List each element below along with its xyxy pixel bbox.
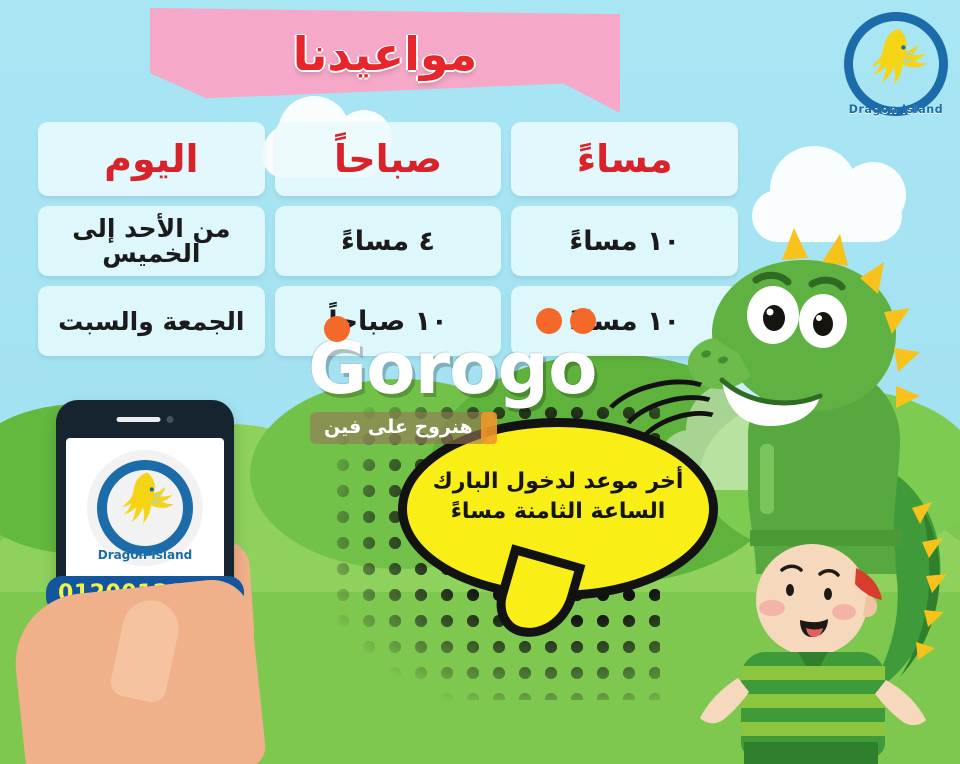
logo-name-label: Dragon Island <box>840 103 952 117</box>
phone-brand-logo: Dragon Island <box>87 450 203 566</box>
header-cell-day: اليوم <box>38 122 265 196</box>
cell-morning: ٤ مساءً <box>275 206 502 276</box>
notice-speech-bubble: أخر موعد لدخول البارك الساعة الثامنة مسا… <box>398 418 718 600</box>
table-header-row: اليوم صباحاً مساءً <box>38 122 738 196</box>
header-cell-evening: مساءً <box>511 122 738 196</box>
cell-day: الجمعة والسبت <box>38 286 265 356</box>
dragon-head-icon <box>111 467 179 535</box>
notice-text: أخر موعد لدخول البارك الساعة الثامنة مسا… <box>409 467 708 526</box>
table-row: من الأحد إلى الخميس ٤ مساءً ١٠ مساءً <box>38 206 738 276</box>
phone-earpiece <box>117 416 174 423</box>
camera-icon <box>167 416 174 423</box>
brand-logo: Dragon Island <box>840 8 952 120</box>
infographic-canvas: مواعيدنا Dragon Island اليوم صباحاً مساء… <box>0 0 960 764</box>
dragon-head-icon <box>859 23 933 97</box>
cell-day: من الأحد إلى الخميس <box>38 206 265 276</box>
notice-line-2: الساعة الثامنة مساءً <box>433 497 684 527</box>
notice-line-1: أخر موعد لدخول البارك <box>433 467 684 497</box>
speaker-grill <box>117 417 161 422</box>
title-ribbon: مواعيدنا <box>150 8 620 116</box>
logo-name-label: Dragon Island <box>87 548 203 562</box>
schedule-table: اليوم صباحاً مساءً من الأحد إلى الخميس ٤… <box>38 122 738 356</box>
page-title: مواعيدنا <box>150 8 620 116</box>
cell-morning: ١٠ صباحاً <box>275 286 502 356</box>
table-row: الجمعة والسبت ١٠ صباحاً ١٠ مساءً <box>38 286 738 356</box>
header-cell-morning: صباحاً <box>275 122 502 196</box>
